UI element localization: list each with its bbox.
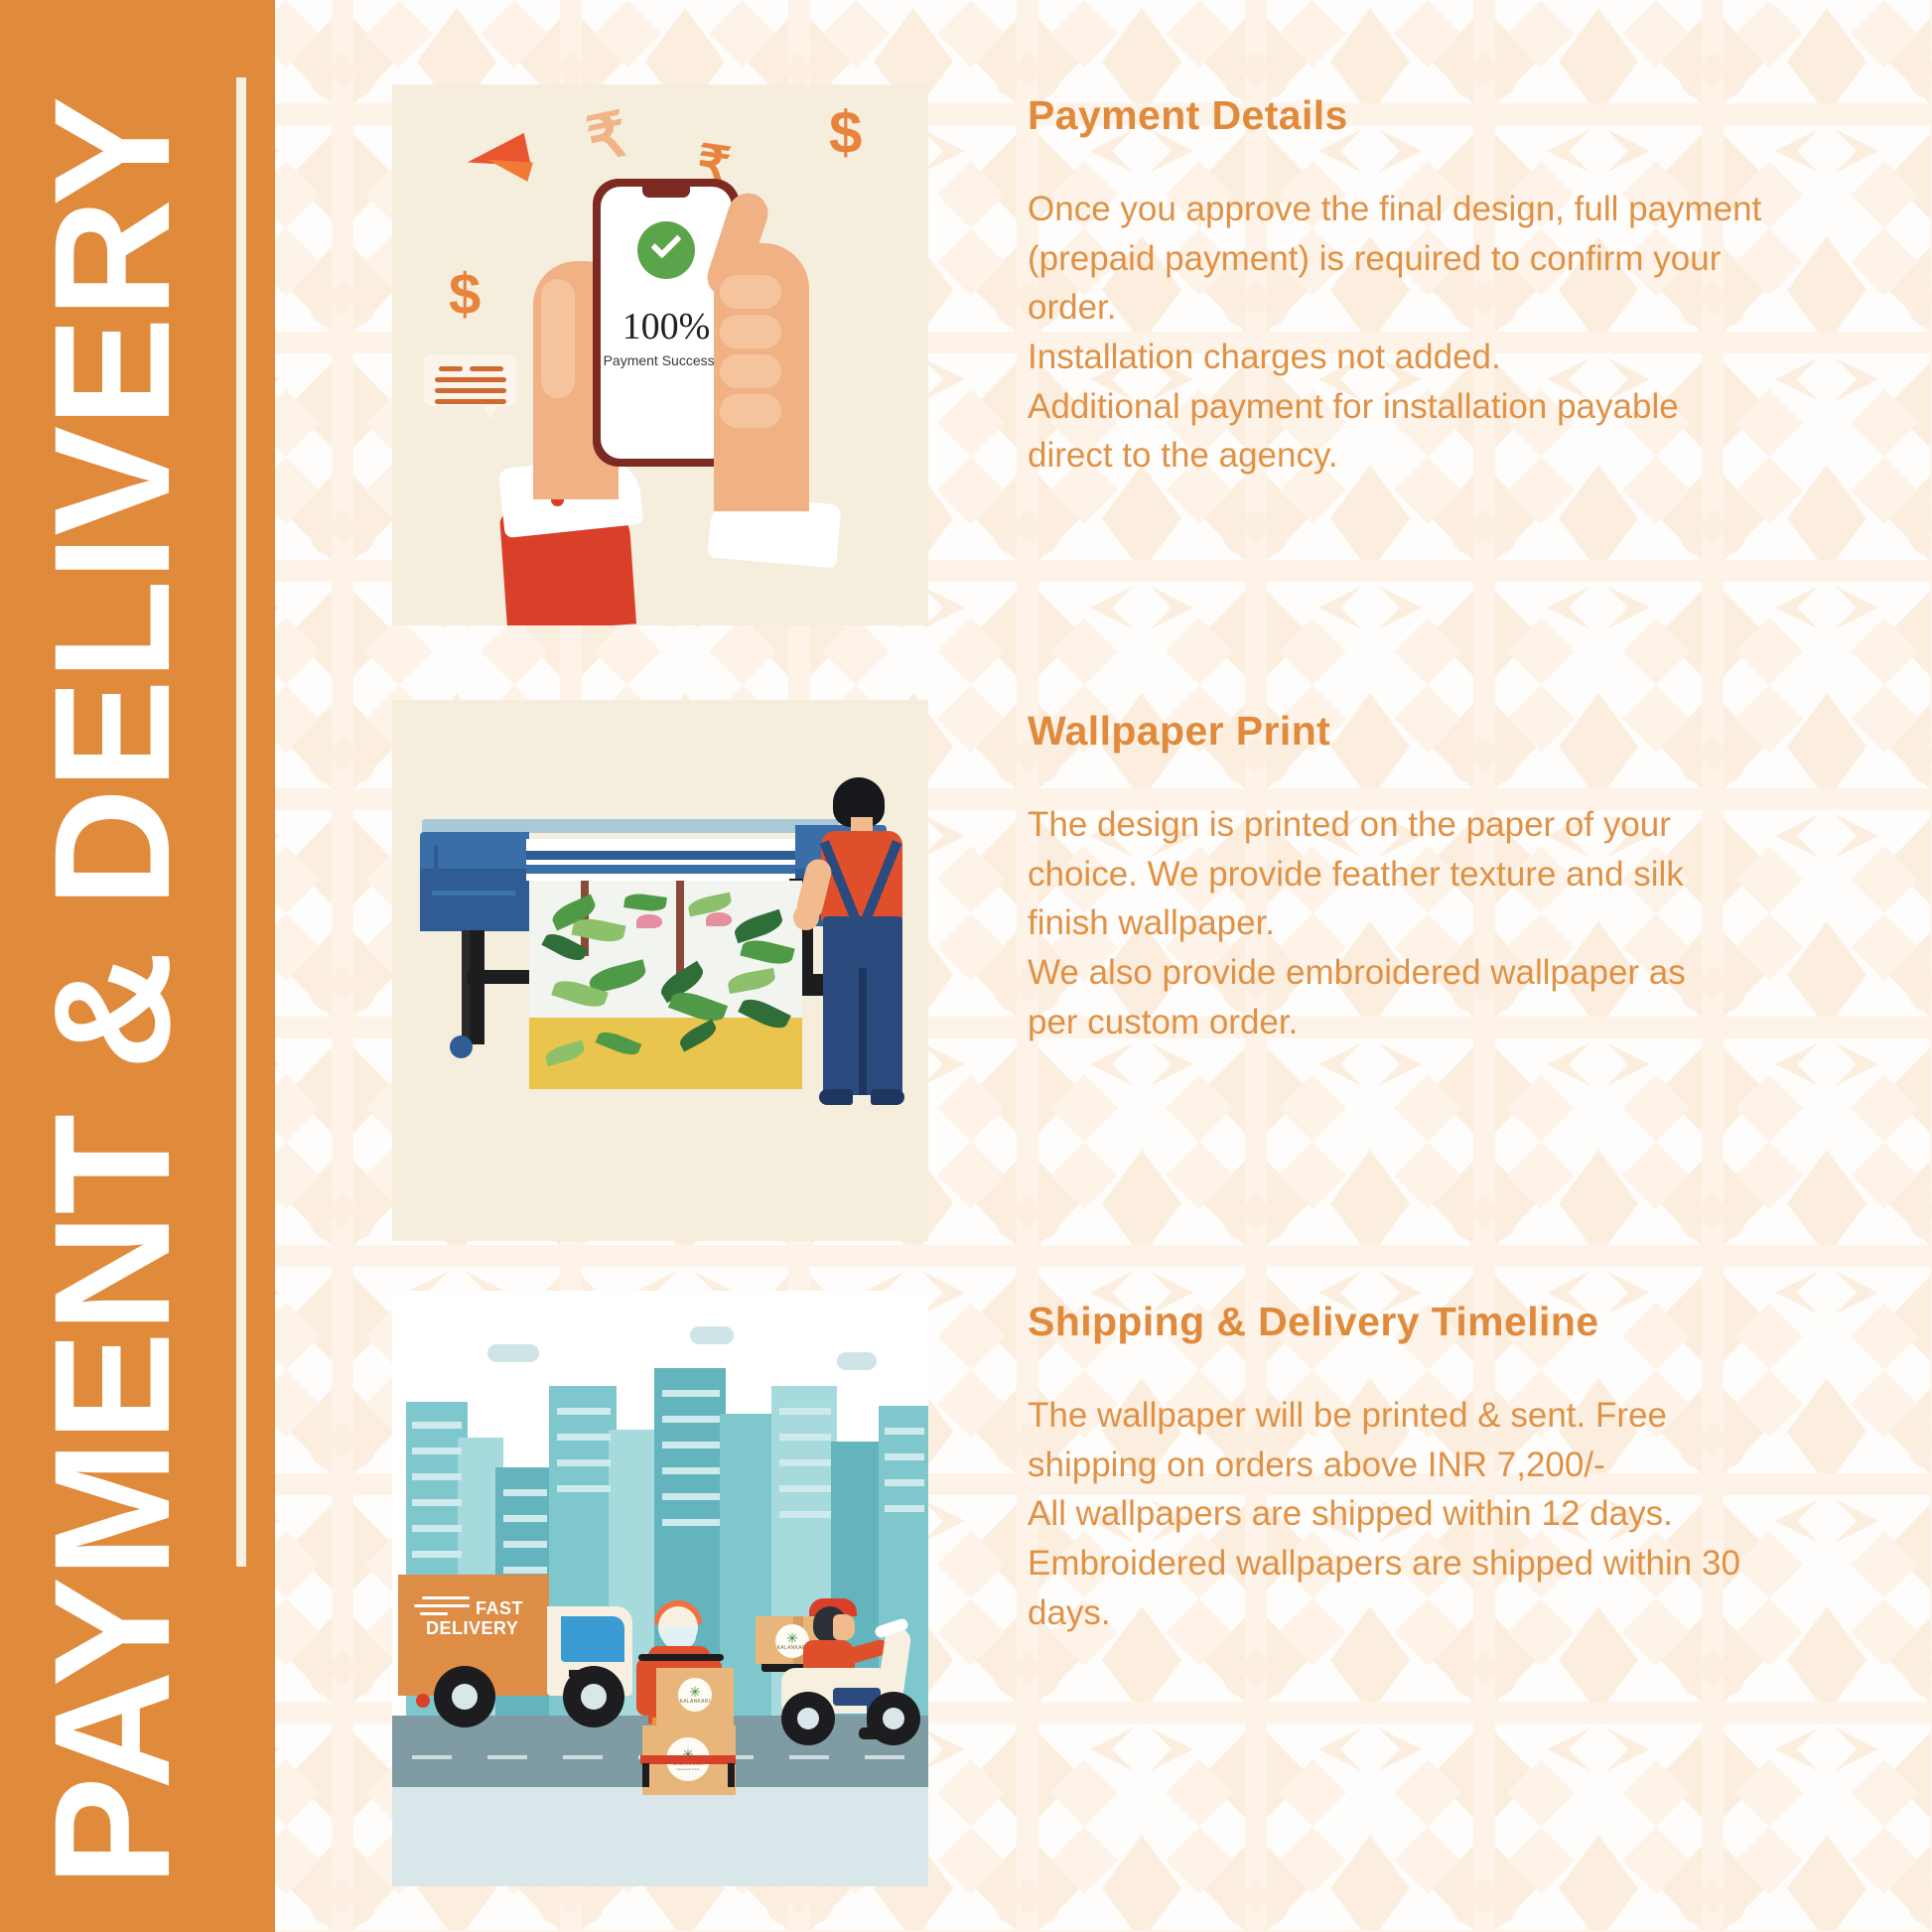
building-windows <box>662 1416 720 1423</box>
logo-star-icon: ✳ <box>786 1631 798 1645</box>
printer-operator-shoe <box>819 1089 853 1105</box>
finger <box>720 315 781 348</box>
building-windows <box>412 1473 462 1480</box>
wheel-hub <box>581 1684 607 1710</box>
wallpaper-flamingo <box>636 914 662 928</box>
body-line: finish wallpaper. <box>1028 898 1822 948</box>
section-text-shipping-delivery: Shipping & Delivery Timeline The wallpap… <box>928 1291 1871 1637</box>
finger <box>720 354 781 388</box>
wallpaper-leaf <box>727 968 776 994</box>
building-windows <box>412 1551 462 1558</box>
building-windows <box>503 1541 547 1548</box>
building-windows <box>557 1408 611 1415</box>
illustration-city-delivery: FAST DELIVERY ✳ KALANKARI <box>392 1291 928 1886</box>
building-windows <box>662 1442 720 1449</box>
section-title: Wallpaper Print <box>1028 708 1871 755</box>
body-line: order. <box>1028 283 1822 333</box>
section-title: Payment Details <box>1028 92 1871 139</box>
body-line: per custom order. <box>1028 998 1822 1047</box>
courier-face-mask <box>662 1626 696 1648</box>
thumb <box>541 279 575 398</box>
building-windows <box>885 1428 924 1435</box>
building-windows <box>503 1489 547 1496</box>
sidebar: PAYMENT & DELIVERY <box>0 0 275 1932</box>
road-dash <box>412 1755 452 1759</box>
body-line: Installation charges not added. <box>1028 333 1822 382</box>
road-dash <box>789 1755 829 1759</box>
wallpaper-leaf <box>571 915 625 945</box>
body-line: The design is printed on the paper of yo… <box>1028 800 1822 850</box>
rupee-symbol-icon: ₹ <box>581 97 634 177</box>
building-windows <box>779 1485 831 1492</box>
payment-status-text: Payment Successful <box>601 352 732 368</box>
chat-line <box>435 388 506 393</box>
printer-hook <box>434 845 464 875</box>
printer-operator-shoe <box>871 1089 904 1105</box>
logo-sub-text: Handmade Prints <box>676 1767 699 1771</box>
section-text-wallpaper-print: Wallpaper Print The design is printed on… <box>928 700 1871 1046</box>
section-text-payment-details: Payment Details Once you approve the fin… <box>928 84 1871 481</box>
building-windows <box>412 1422 462 1429</box>
section-wallpaper-print: Wallpaper Print The design is printed on… <box>392 700 1871 1241</box>
phone-notch <box>642 187 690 198</box>
body-line: days. <box>1028 1588 1822 1638</box>
building-windows <box>662 1519 720 1526</box>
finger <box>720 394 781 428</box>
building-windows <box>557 1459 611 1466</box>
wheel-hub <box>797 1708 819 1729</box>
logo-star-icon: ✳ <box>689 1685 701 1699</box>
page-title: PAYMENT & DELIVERY <box>0 0 226 1932</box>
body-line: shipping on orders above INR 7,200/- <box>1028 1441 1822 1490</box>
rider-face <box>833 1614 855 1640</box>
building-windows <box>662 1390 720 1397</box>
hand-cart-base <box>640 1755 736 1764</box>
illustration-phone-payment: ₹ ₹ $ $ <box>392 84 928 625</box>
printer-bar-stripe <box>526 851 802 860</box>
speed-line <box>420 1612 448 1615</box>
body-line: Once you approve the final design, full … <box>1028 185 1822 234</box>
infographic-page: PAYMENT & DELIVERY ₹ ₹ $ $ <box>0 0 1932 1932</box>
cloud-icon <box>487 1344 539 1362</box>
cloud-icon <box>690 1326 734 1344</box>
chat-line <box>470 366 503 371</box>
body-line: direct to the agency. <box>1028 431 1822 481</box>
printer-crossbar <box>468 970 533 984</box>
chat-line <box>435 377 506 382</box>
sidewalk <box>392 1787 928 1886</box>
road-dash <box>865 1755 904 1759</box>
printed-wallpaper <box>529 881 802 1089</box>
section-body: Once you approve the final design, full … <box>1028 185 1822 481</box>
hand-cart-handle <box>638 1654 724 1661</box>
finger <box>720 275 781 309</box>
road-dash <box>487 1755 527 1759</box>
wallpaper-flamingo <box>706 912 732 926</box>
dollar-symbol-icon: $ <box>449 261 481 328</box>
building-windows <box>412 1499 462 1506</box>
printer-bar-stripe <box>526 865 802 874</box>
printer-print-bar <box>526 839 802 881</box>
section-payment-details: ₹ ₹ $ $ <box>392 84 1871 625</box>
truck-label-fast: FAST <box>476 1598 523 1619</box>
building-windows <box>557 1434 611 1441</box>
building-windows <box>503 1567 547 1574</box>
body-line: Additional payment for installation paya… <box>1028 382 1822 432</box>
wheel-hub <box>883 1708 904 1729</box>
building-windows <box>412 1525 462 1532</box>
building-windows <box>885 1505 924 1512</box>
building-windows <box>662 1467 720 1474</box>
building-windows <box>779 1408 831 1415</box>
section-title: Shipping & Delivery Timeline <box>1028 1299 1871 1345</box>
printer-detail-line <box>432 891 515 896</box>
payment-percent: 100% <box>601 305 732 348</box>
cloud-icon <box>837 1352 877 1370</box>
body-line: We also provide embroidered wallpaper as <box>1028 948 1822 998</box>
truck-window <box>561 1616 624 1662</box>
wheel-hub <box>452 1684 478 1710</box>
building-windows <box>779 1511 831 1518</box>
building-windows <box>503 1515 547 1522</box>
building-windows <box>779 1434 831 1441</box>
speed-line <box>422 1596 470 1599</box>
printer-top-rail <box>422 819 839 833</box>
printer-operator-hand <box>793 904 819 930</box>
building-windows <box>412 1448 462 1454</box>
section-body: The design is printed on the paper of yo… <box>1028 800 1822 1046</box>
hand-cart-leg <box>642 1763 649 1787</box>
printer-leg <box>462 930 470 1044</box>
wallpaper-leaf <box>740 936 794 968</box>
chat-line <box>435 399 506 404</box>
printer-wheel <box>450 1035 473 1058</box>
body-line: (prepaid payment) is required to confirm… <box>1028 234 1822 284</box>
truck-taillight <box>416 1694 430 1708</box>
chat-line <box>439 366 463 371</box>
building-windows <box>662 1493 720 1500</box>
illustration-printer <box>392 700 928 1241</box>
body-line: choice. We provide feather texture and s… <box>1028 850 1822 899</box>
truck-label-delivery: DELIVERY <box>426 1618 518 1639</box>
building-windows <box>885 1453 924 1460</box>
box-logo: ✳ KALANKARI <box>678 1678 712 1712</box>
printer-leg <box>468 930 484 1044</box>
building-windows <box>885 1479 924 1486</box>
logo-brand-text: KALANKARI <box>680 1699 711 1705</box>
body-line: Embroidered wallpapers are shipped withi… <box>1028 1539 1822 1588</box>
building-windows <box>557 1485 611 1492</box>
hand-cart-leg <box>728 1763 735 1787</box>
body-line: The wallpaper will be printed & sent. Fr… <box>1028 1391 1822 1441</box>
section-body: The wallpaper will be printed & sent. Fr… <box>1028 1391 1822 1637</box>
body-line: All wallpapers are shipped within 12 day… <box>1028 1489 1822 1539</box>
road-dash <box>563 1755 603 1759</box>
pants-gap <box>859 968 867 1095</box>
sidebar-accent-line <box>236 77 246 1567</box>
section-shipping-delivery: FAST DELIVERY ✳ KALANKARI <box>392 1291 1871 1886</box>
speed-line <box>414 1604 470 1607</box>
wallpaper-leaf <box>623 892 667 913</box>
wallpaper-leaf <box>732 909 785 943</box>
building-windows <box>779 1459 831 1466</box>
dollar-symbol-icon: $ <box>829 98 862 167</box>
printer-body-left-lower <box>420 869 529 931</box>
